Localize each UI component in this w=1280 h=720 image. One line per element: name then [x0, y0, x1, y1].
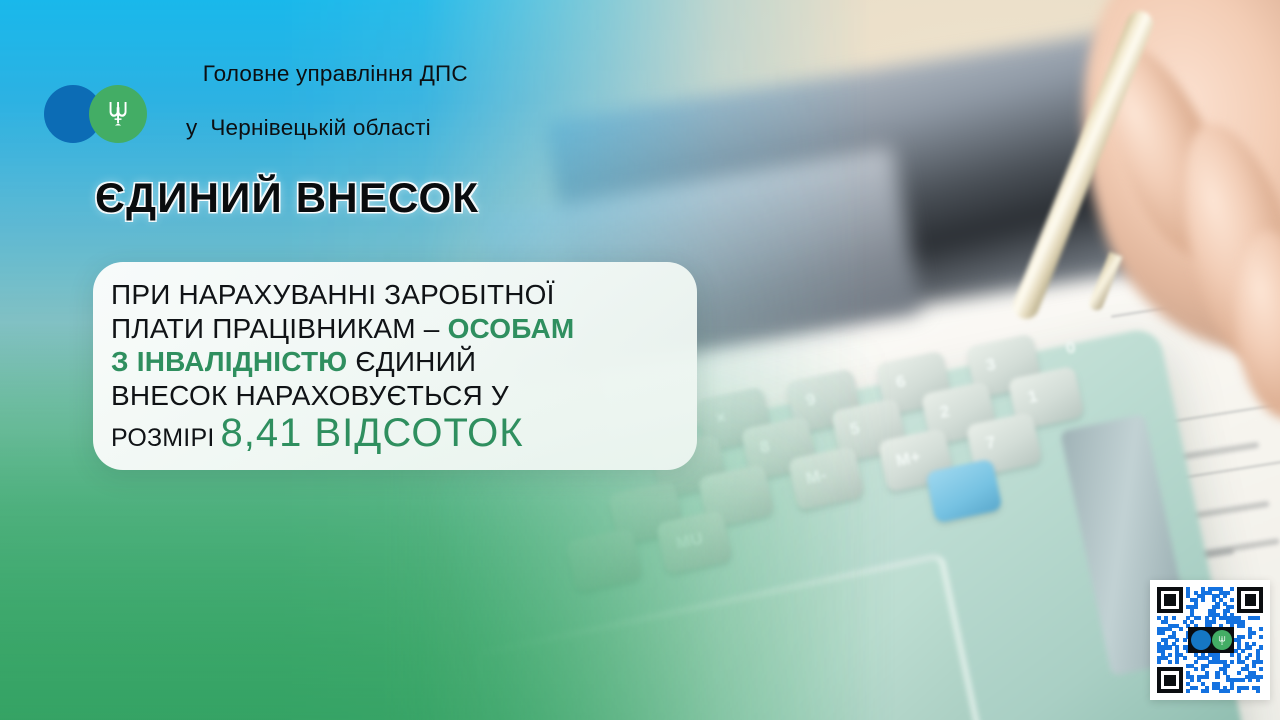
qr-center-logo — [1188, 627, 1234, 653]
qr-module — [1161, 631, 1165, 635]
qr-module — [1168, 660, 1172, 664]
qr-module — [1259, 609, 1263, 613]
qr-module — [1241, 624, 1245, 628]
message-line-1: ПРИ НАРАХУВАННІ ЗАРОБІТНОЇ — [111, 279, 555, 310]
qr-module — [1259, 660, 1263, 664]
message-highlight-1: ОСОБАМ — [448, 313, 575, 344]
rate-prefix: РОЗМІРІ — [111, 424, 214, 452]
qr-logo-blue-circle-icon — [1191, 630, 1211, 650]
qr-module — [1256, 616, 1260, 620]
qr-module — [1190, 678, 1194, 682]
message-text: ПРИ НАРАХУВАННІ ЗАРОБІТНОЇ ПЛАТИ ПРАЦІВН… — [111, 278, 671, 456]
qr-module — [1230, 653, 1234, 657]
qr-trident-icon — [1218, 635, 1226, 646]
org-line-2: у Чернівецькій області — [164, 114, 468, 141]
qr-module — [1179, 627, 1183, 631]
qr-module — [1241, 635, 1245, 639]
message-line-3b: ЄДИНИЙ — [347, 346, 476, 377]
message-card: ПРИ НАРАХУВАННІ ЗАРОБІТНОЇ ПЛАТИ ПРАЦІВН… — [93, 262, 697, 470]
qr-module — [1175, 660, 1179, 664]
qr-code-canvas — [1157, 587, 1263, 693]
qr-module — [1183, 656, 1187, 660]
qr-module — [1230, 587, 1234, 591]
message-highlight-2: З ІНВАЛІДНІСТЮ — [111, 346, 347, 377]
qr-module — [1252, 642, 1256, 646]
message-line-2a: ПЛАТИ ПРАЦІВНИКАМ – — [111, 313, 448, 344]
qr-module — [1256, 689, 1260, 693]
qr-module — [1256, 678, 1260, 682]
qr-module — [1194, 667, 1198, 671]
qr-module — [1241, 678, 1245, 682]
qr-module — [1205, 689, 1209, 693]
qr-module — [1157, 660, 1161, 664]
qr-module — [1245, 686, 1249, 690]
qr-module — [1252, 602, 1256, 606]
qr-code[interactable] — [1150, 580, 1270, 700]
qr-module — [1183, 638, 1187, 642]
qr-module — [1226, 591, 1230, 595]
qr-module — [1223, 594, 1227, 598]
qr-module — [1230, 686, 1234, 690]
infographic-canvas: × 9 6 3 0 8 5 2 1 M- M+ 7 MU — [0, 0, 1280, 720]
qr-module — [1215, 605, 1219, 609]
qr-module — [1172, 682, 1176, 686]
logo-green-circle-icon — [89, 85, 147, 143]
qr-module — [1259, 627, 1263, 631]
qr-module — [1212, 620, 1216, 624]
qr-module — [1259, 667, 1263, 671]
qr-module — [1252, 631, 1256, 635]
qr-module — [1230, 660, 1234, 664]
qr-module — [1186, 689, 1190, 693]
trident-icon — [107, 99, 129, 129]
qr-module — [1226, 664, 1230, 668]
qr-module — [1172, 602, 1176, 606]
qr-module — [1205, 664, 1209, 668]
header: Головне управління ДПС у Чернівецькій об… — [44, 33, 468, 195]
rate-line: РОЗМІРІ8,41 ВІДСОТОК — [111, 417, 671, 456]
qr-module — [1215, 675, 1219, 679]
qr-module — [1175, 638, 1179, 642]
qr-module — [1194, 686, 1198, 690]
rate-value: 8,41 ВІДСОТОК — [220, 411, 523, 455]
qr-module — [1237, 671, 1241, 675]
qr-module — [1168, 653, 1172, 657]
qr-module — [1226, 689, 1230, 693]
qr-module — [1248, 645, 1252, 649]
qr-module — [1259, 635, 1263, 639]
qr-module — [1194, 605, 1198, 609]
qr-module — [1194, 660, 1198, 664]
qr-module — [1241, 649, 1245, 653]
page-title: ЄДИНИЙ ВНЕСОК — [95, 174, 479, 222]
qr-module — [1259, 645, 1263, 649]
message-line-4: ВНЕСОК НАРАХОВУЄТЬСЯ У — [111, 380, 509, 411]
qr-module — [1252, 664, 1256, 668]
qr-module — [1197, 616, 1201, 620]
qr-module — [1259, 675, 1263, 679]
qr-logo-green-circle-icon — [1212, 630, 1232, 650]
qr-module — [1201, 598, 1205, 602]
qr-module — [1245, 656, 1249, 660]
qr-module — [1248, 635, 1252, 639]
qr-module — [1230, 605, 1234, 609]
qr-module — [1179, 689, 1183, 693]
qr-module — [1237, 689, 1241, 693]
qr-module — [1205, 675, 1209, 679]
qr-module — [1179, 609, 1183, 613]
qr-module — [1172, 616, 1176, 620]
qr-module — [1230, 598, 1234, 602]
qr-module — [1248, 653, 1252, 657]
org-line-1: Головне управління ДПС — [203, 61, 468, 86]
qr-module — [1248, 678, 1252, 682]
dps-logo[interactable] — [44, 85, 156, 143]
qr-module — [1168, 645, 1172, 649]
organization-title: Головне управління ДПС у Чернівецькій об… — [164, 33, 468, 195]
